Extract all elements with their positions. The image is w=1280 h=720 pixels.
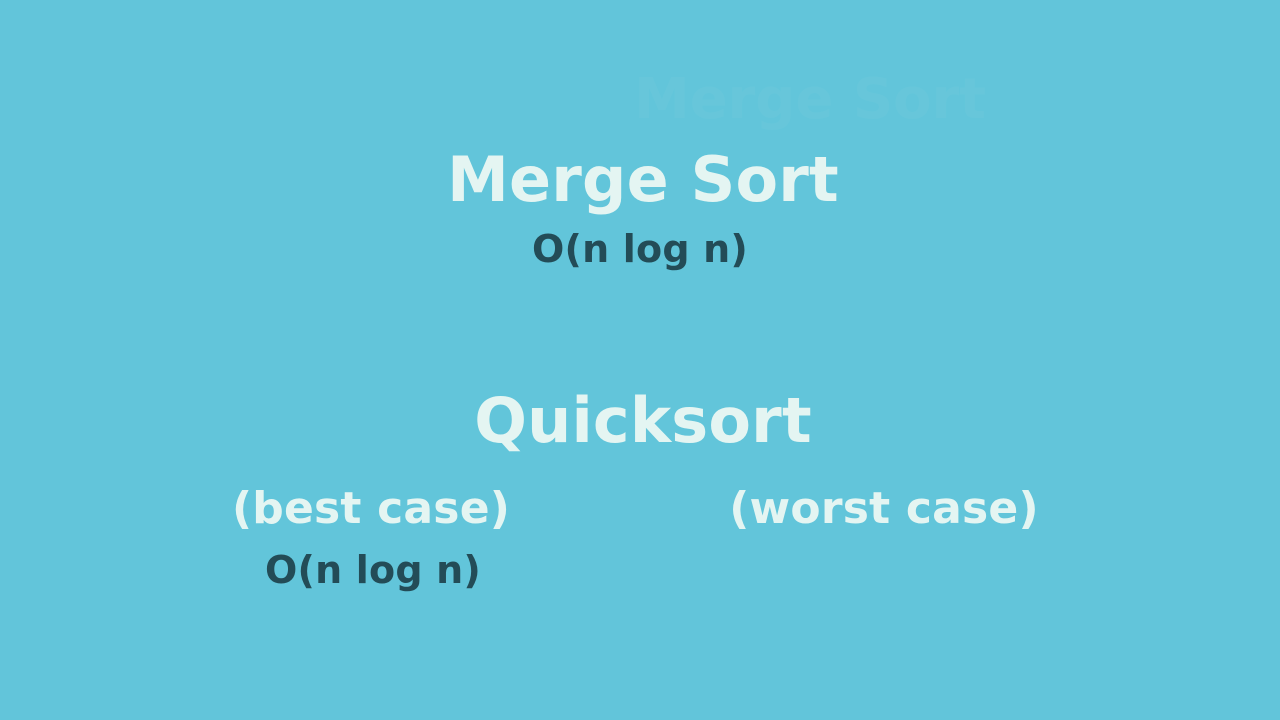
quicksort-worst-case-label: (worst case) [729, 487, 1039, 531]
slide-canvas: Merge Sort Merge Sort O(n log n) Quickso… [0, 0, 1280, 720]
quicksort-best-case-complexity: O(n log n) [265, 551, 481, 589]
quicksort-best-case-label: (best case) [232, 487, 510, 531]
merge-sort-title: Merge Sort [447, 149, 839, 211]
faded-heading-ghost: Merge Sort [634, 72, 986, 128]
merge-sort-complexity: O(n log n) [532, 230, 748, 268]
quicksort-title: Quicksort [474, 390, 812, 452]
